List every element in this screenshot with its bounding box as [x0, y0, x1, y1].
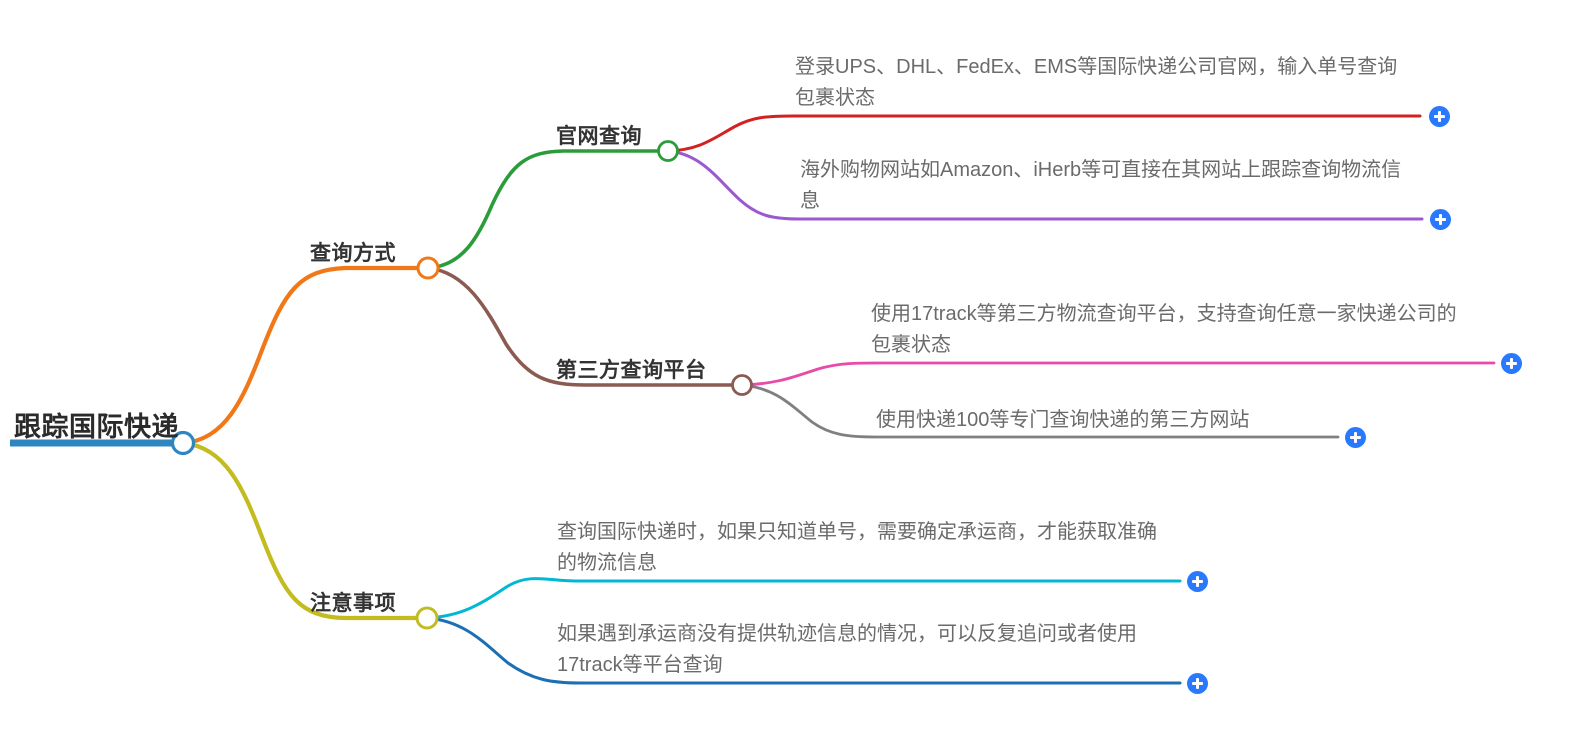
plus-icon-v — [1354, 432, 1356, 443]
node-notes[interactable]: 注意事项 — [310, 587, 430, 619]
node-thirdparty-leaf-2-label: 使用快递100等专门查询快递的第三方网站 — [876, 405, 1342, 436]
node-thirdparty-leaf-1[interactable]: 使用17track等第三方物流查询平台，支持查询任意一家快递公司的包裹状态 — [871, 299, 1471, 363]
node-notes-leaf-1-label: 查询国际快递时，如果只知道单号，需要确定承运商，才能获取准确的物流信息 — [557, 517, 1172, 579]
leaf-line-official-1 — [668, 116, 1420, 151]
node-third-party[interactable]: 第三方查询平台 — [556, 354, 746, 386]
node-notes-label: 注意事项 — [310, 587, 396, 617]
mindmap-canvas: 跟踪国际快递 查询方式 注意事项 官网查询 第三方查询平台 登录UPS、DHL、… — [0, 0, 1589, 745]
expand-button-notes-leaf-1[interactable] — [1187, 571, 1208, 592]
expand-button-notes-leaf-2[interactable] — [1187, 673, 1208, 694]
expand-button-official-leaf-2[interactable] — [1430, 209, 1451, 230]
node-official-leaf-2[interactable]: 海外购物网站如Amazon、iHerb等可直接在其网站上跟踪查询物流信息 — [800, 155, 1412, 219]
leaf-line-notes-1 — [427, 579, 1180, 618]
node-official-site[interactable]: 官网查询 — [556, 120, 672, 152]
node-query-method[interactable]: 查询方式 — [310, 237, 430, 269]
plus-icon-v — [1510, 358, 1512, 369]
plus-icon-v — [1196, 678, 1198, 689]
expand-button-official-leaf-1[interactable] — [1429, 106, 1450, 127]
node-third-party-label: 第三方查询平台 — [556, 354, 707, 384]
plus-icon-v — [1438, 111, 1440, 122]
node-official-leaf-1-label: 登录UPS、DHL、FedEx、EMS等国际快递公司官网，输入单号查询包裹状态 — [795, 52, 1403, 114]
node-notes-leaf-2-label: 如果遇到承运商没有提供轨迹信息的情况，可以反复追问或者使用17track等平台查… — [557, 619, 1172, 681]
node-official-leaf-1[interactable]: 登录UPS、DHL、FedEx、EMS等国际快递公司官网，输入单号查询包裹状态 — [795, 52, 1407, 116]
node-official-leaf-2-label: 海外购物网站如Amazon、iHerb等可直接在其网站上跟踪查询物流信息 — [800, 155, 1406, 217]
expand-button-thirdparty-leaf-2[interactable] — [1345, 427, 1366, 448]
expand-button-thirdparty-leaf-1[interactable] — [1501, 353, 1522, 374]
leaf-line-thirdparty-1 — [742, 363, 1494, 385]
plus-icon-v — [1439, 214, 1441, 225]
node-notes-leaf-1[interactable]: 查询国际快递时，如果只知道单号，需要确定承运商，才能获取准确的物流信息 — [557, 517, 1177, 581]
node-notes-leaf-2[interactable]: 如果遇到承运商没有提供轨迹信息的情况，可以反复追问或者使用17track等平台查… — [557, 619, 1177, 683]
node-root-label: 跟踪国际快递 — [14, 405, 179, 444]
node-root[interactable]: 跟踪国际快递 — [8, 405, 188, 443]
node-query-method-label: 查询方式 — [310, 237, 396, 267]
node-thirdparty-leaf-1-label: 使用17track等第三方物流查询平台，支持查询任意一家快递公司的包裹状态 — [871, 299, 1466, 361]
node-thirdparty-leaf-2[interactable]: 使用快递100等专门查询快递的第三方网站 — [876, 405, 1346, 438]
plus-icon-v — [1196, 576, 1198, 587]
node-official-site-label: 官网查询 — [556, 120, 642, 150]
branch-line-query-method — [183, 268, 428, 443]
branch-line-official-site — [428, 151, 668, 268]
